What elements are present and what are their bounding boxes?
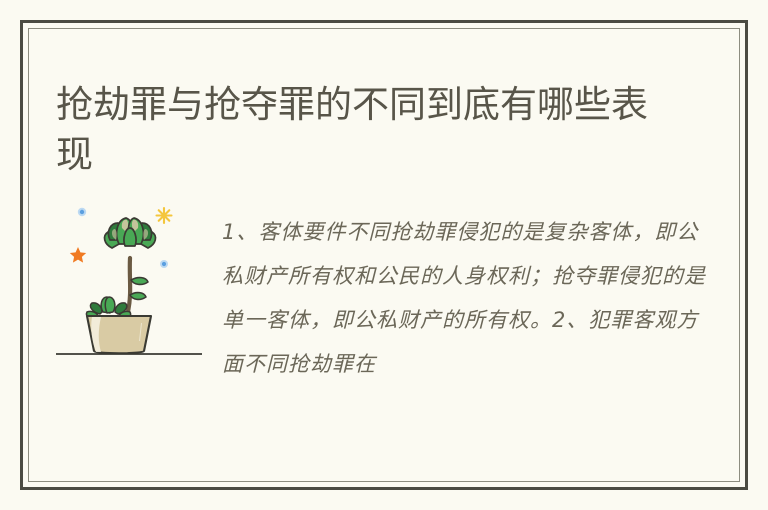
flower-pot bbox=[87, 316, 151, 353]
potted-plant-illustration bbox=[56, 196, 206, 361]
article-content: 1、客体要件不同抢劫罪侵犯的是复杂客体，即公私财产所有权和公民的人身权利；抢夺罪… bbox=[56, 196, 712, 386]
article-body: 1、客体要件不同抢劫罪侵犯的是复杂客体，即公私财产所有权和公民的人身权利；抢夺罪… bbox=[206, 196, 712, 386]
yellow-sparkle-icon bbox=[157, 208, 172, 223]
orange-star-icon bbox=[70, 247, 86, 263]
plant-stem bbox=[128, 258, 130, 312]
blue-dot-right-icon bbox=[160, 260, 168, 268]
page-title: 抢劫罪与抢夺罪的不同到底有哪些表现 bbox=[56, 80, 656, 180]
plant-top-rosette bbox=[105, 218, 156, 248]
blue-dot-upper-left-icon bbox=[78, 208, 86, 216]
stem-side-leaves bbox=[130, 278, 148, 300]
article-page: 抢劫罪与抢夺罪的不同到底有哪些表现 bbox=[0, 0, 768, 510]
